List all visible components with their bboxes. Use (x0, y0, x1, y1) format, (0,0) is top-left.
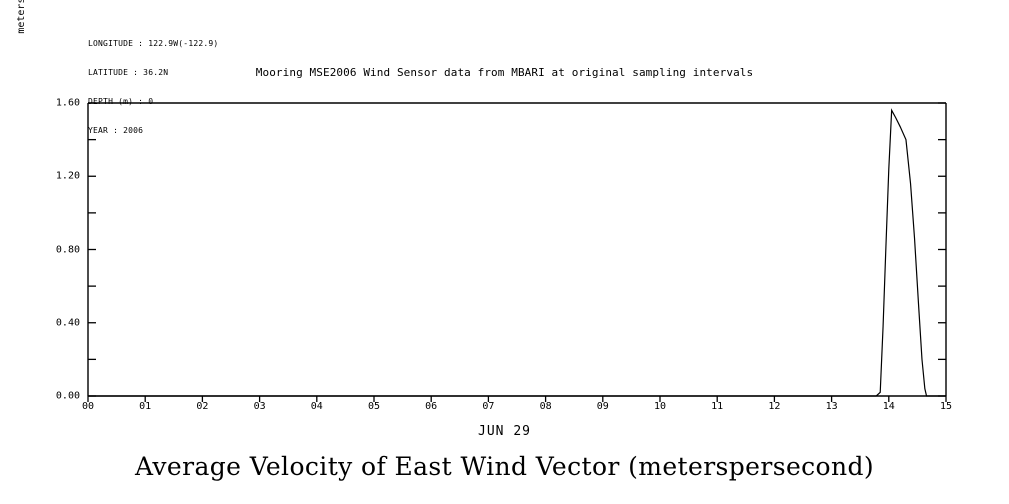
x-tick-label: 04 (311, 401, 323, 412)
axis-frame (88, 103, 946, 396)
y-tick-label: 1.60 (56, 98, 80, 109)
x-tick-label: 01 (139, 401, 151, 412)
y-tick-label: 1.20 (56, 171, 80, 182)
x-tick-label: 07 (482, 401, 494, 412)
metadata-longitude: LONGITUDE : 122.9W(-122.9) (88, 39, 218, 49)
x-tick-label: 05 (368, 401, 380, 412)
x-tick-label: 10 (654, 401, 666, 412)
y-tick-label: 0.40 (56, 317, 80, 328)
x-tick-label: 15 (940, 401, 952, 412)
y-axis-tick-labels: 0.000.400.801.201.60 (30, 103, 80, 396)
x-axis-tick-labels: 00010203040506070809101112131415 (88, 401, 946, 415)
figure-caption: Average Velocity of East Wind Vector (me… (0, 452, 1009, 481)
plot-title: Mooring MSE2006 Wind Sensor data from MB… (0, 66, 1009, 79)
x-tick-label: 09 (597, 401, 609, 412)
x-tick-label: 08 (540, 401, 552, 412)
x-tick-label: 13 (826, 401, 838, 412)
y-tick-label: 0.00 (56, 391, 80, 402)
plot-area (88, 103, 946, 396)
tick-marks (88, 103, 946, 402)
x-tick-label: 12 (768, 401, 780, 412)
y-tick-label: 0.80 (56, 244, 80, 255)
x-axis-title: JUN 29 (0, 424, 1009, 439)
x-tick-label: 14 (883, 401, 895, 412)
chart-canvas (88, 103, 946, 396)
x-tick-label: 06 (425, 401, 437, 412)
x-tick-label: 00 (82, 401, 94, 412)
x-tick-label: 11 (711, 401, 723, 412)
y-axis-title: meterspersecond (14, 0, 30, 135)
data-series-line (88, 110, 946, 396)
x-tick-label: 03 (254, 401, 266, 412)
x-tick-label: 02 (196, 401, 208, 412)
